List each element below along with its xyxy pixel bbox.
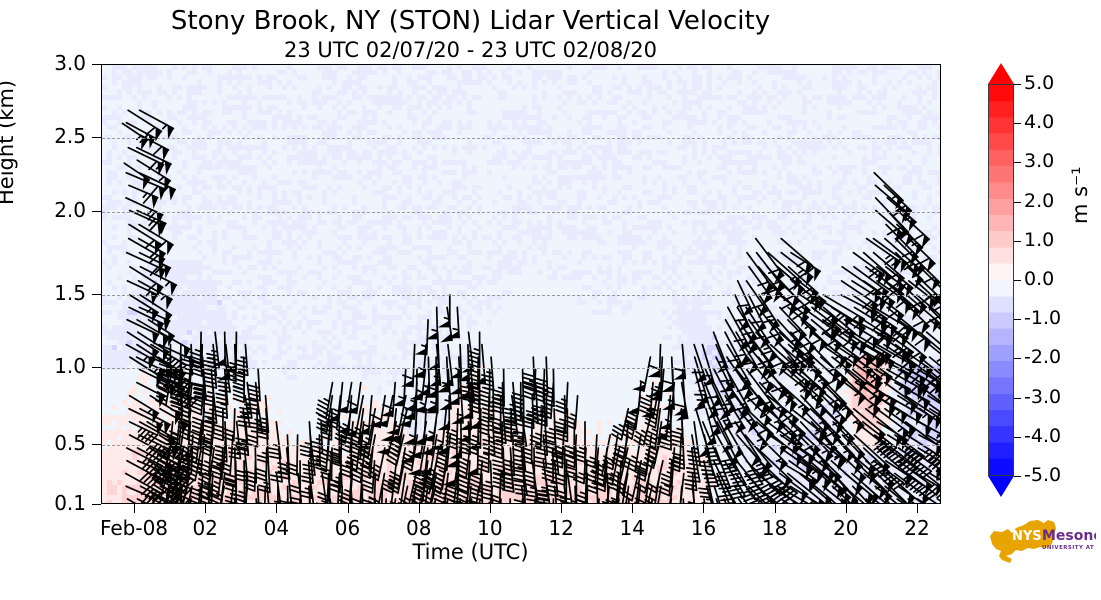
y-axis-tick [92, 444, 101, 445]
x-axis-tick [632, 504, 633, 513]
colorbar-label: m s⁻¹ [1068, 166, 1092, 224]
x-axis-tick [561, 504, 562, 513]
page-title: Stony Brook, NY (STON) Lidar Vertical Ve… [0, 6, 941, 36]
colorbar-tick-label: -1.0 [1024, 307, 1061, 329]
lidar-vertical-velocity-figure: Stony Brook, NY (STON) Lidar Vertical Ve… [0, 0, 1101, 600]
nys-mesonet-logo: NYS Mesonet UNIVERSITY AT ALBANY [972, 516, 1096, 566]
y-axis-tick-label: 3.0 [0, 51, 86, 75]
wind-barb-overlay [102, 65, 940, 503]
colorbar-tick-label: -4.0 [1024, 425, 1061, 447]
colorbar-tick [1014, 319, 1021, 320]
y-axis-tick-label: 0.1 [0, 491, 86, 515]
y-axis-tick-label: 1.5 [0, 281, 86, 305]
y-axis-tick [92, 504, 101, 505]
y-axis-tick [92, 367, 101, 368]
x-axis-tick [348, 504, 349, 513]
colorbar-tick [1014, 280, 1021, 281]
x-axis-tick [490, 504, 491, 513]
x-axis-tick [419, 504, 420, 513]
gridline [102, 212, 940, 213]
x-axis-label: Time (UTC) [0, 540, 941, 564]
colorbar-tick [1014, 358, 1021, 359]
colorbar-tick-label: 1.0 [1024, 229, 1054, 251]
colorbar-tick-label: 2.0 [1024, 190, 1054, 212]
colorbar-tick [1014, 437, 1021, 438]
x-axis-tick [917, 504, 918, 513]
logo-mesonet-text: Mesonet [1042, 528, 1096, 544]
x-axis-tick [775, 504, 776, 513]
colorbar-tick-label: -2.0 [1024, 346, 1061, 368]
colorbar-tick [1014, 476, 1021, 477]
colorbar-tick-label: 3.0 [1024, 150, 1054, 172]
colorbar-gradient [988, 84, 1014, 476]
colorbar-tick-label: 0.0 [1024, 268, 1054, 290]
logo-nys-text: NYS [1012, 529, 1042, 544]
colorbar-tick [1014, 241, 1021, 242]
colorbar-arrow-max [988, 63, 1014, 84]
colorbar-tick-label: 4.0 [1024, 111, 1054, 133]
y-axis-tick-label: 2.0 [0, 198, 86, 222]
y-axis-tick [92, 64, 101, 65]
plot-area [101, 64, 941, 504]
colorbar-tick [1014, 84, 1021, 85]
y-axis-tick-label: 0.5 [0, 431, 86, 455]
gridline [102, 445, 940, 446]
y-axis-tick [92, 211, 101, 212]
x-axis-tick-label: 22 [857, 516, 977, 540]
logo-affiliation-text: UNIVERSITY AT ALBANY [1042, 545, 1096, 551]
x-axis-tick [846, 504, 847, 513]
colorbar-tick-label: -3.0 [1024, 386, 1061, 408]
colorbar-arrow-min [988, 476, 1014, 497]
y-axis-tick-label: 2.5 [0, 124, 86, 148]
gridline [102, 295, 940, 296]
x-axis-tick [703, 504, 704, 513]
y-axis-tick [92, 294, 101, 295]
colorbar-tick [1014, 398, 1021, 399]
gridline [102, 138, 940, 139]
y-axis-tick-label: 1.0 [0, 354, 86, 378]
y-axis-tick [92, 137, 101, 138]
x-axis-tick [134, 504, 135, 513]
gridline [102, 368, 940, 369]
page-subtitle: 23 UTC 02/07/20 - 23 UTC 02/08/20 [0, 38, 941, 62]
colorbar-tick-label: 5.0 [1024, 72, 1054, 94]
colorbar: 5.04.03.02.01.00.0-1.0-2.0-3.0-4.0-5.0 [986, 62, 1016, 498]
plot-canvas [102, 65, 940, 503]
x-axis-tick [205, 504, 206, 513]
colorbar-tick [1014, 162, 1021, 163]
colorbar-tick [1014, 202, 1021, 203]
colorbar-tick [1014, 123, 1021, 124]
x-axis-tick [276, 504, 277, 513]
colorbar-tick-label: -5.0 [1024, 464, 1061, 486]
